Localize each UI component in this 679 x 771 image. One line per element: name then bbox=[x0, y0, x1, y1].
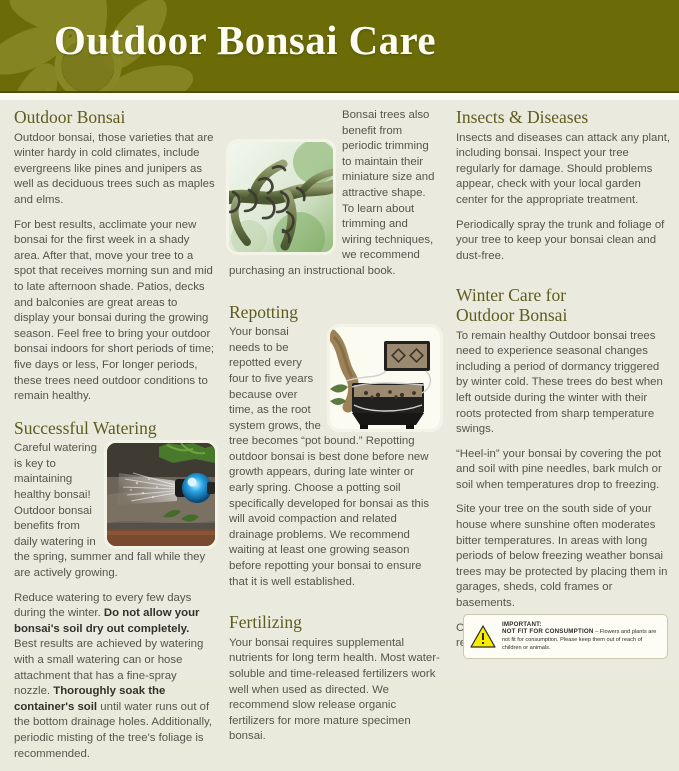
heading-repotting: Repotting bbox=[229, 303, 440, 323]
page-header: Outdoor Bonsai Care bbox=[0, 0, 679, 93]
paragraph-insects-2: Periodically spray the trunk and foliage… bbox=[456, 218, 671, 265]
paragraph-outdoor-bonsai-2: For best results, acclimate your new bon… bbox=[14, 218, 215, 405]
header-bottom-rule bbox=[0, 91, 679, 93]
hose-nozzle-spraying-water-photo bbox=[107, 443, 215, 546]
paragraph-insects-1: Insects and diseases can attack any plan… bbox=[456, 131, 671, 209]
heading-fertilizing: Fertilizing bbox=[229, 613, 440, 633]
poster-page: Outdoor Bonsai Care Outdoor Bonsai Outdo… bbox=[0, 0, 679, 679]
wired-bonsai-branch-photo bbox=[229, 142, 333, 252]
content-columns: Outdoor Bonsai Outdoor bonsai, those var… bbox=[0, 100, 679, 771]
warning-triangle-icon bbox=[470, 625, 496, 648]
heading-outdoor-bonsai: Outdoor Bonsai bbox=[14, 108, 215, 128]
warning-text: IMPORTANT: NOT FIT FOR CONSUMPTION – Flo… bbox=[502, 621, 661, 652]
important-warning-box: IMPORTANT: NOT FIT FOR CONSUMPTION – Flo… bbox=[463, 614, 668, 659]
heading-successful-watering: Successful Watering bbox=[14, 419, 215, 439]
warning-line-important: IMPORTANT: bbox=[502, 621, 661, 629]
column-insects-winter: Insects & Diseases Insects and diseases … bbox=[450, 108, 679, 771]
warning-line-not-fit: NOT FIT FOR CONSUMPTION bbox=[502, 628, 594, 635]
heading-winter-care: Winter Care for Outdoor Bonsai bbox=[456, 286, 671, 325]
page-title: Outdoor Bonsai Care bbox=[54, 16, 436, 64]
paragraph-winter-1: To remain healthy Outdoor bonsai trees n… bbox=[456, 329, 671, 438]
heading-winter-care-line1: Winter Care for bbox=[456, 285, 566, 305]
paragraph-outdoor-bonsai-1: Outdoor bonsai, those varieties that are… bbox=[14, 131, 215, 209]
column-trimming-repotting: Bonsai trees also benefit from periodic … bbox=[225, 108, 450, 771]
paragraph-winter-3: Site your tree on the south side of your… bbox=[456, 502, 671, 611]
column-outdoor-bonsai: Outdoor Bonsai Outdoor bonsai, those var… bbox=[0, 108, 225, 771]
bonsai-pot-with-drainage-screens-photo bbox=[330, 327, 440, 429]
heading-winter-care-line2: Outdoor Bonsai bbox=[456, 305, 567, 325]
paragraph-winter-2: “Heel-in” your bonsai by covering the po… bbox=[456, 447, 671, 494]
paragraph-watering-2: Reduce watering to every few days during… bbox=[14, 591, 215, 763]
header-gap bbox=[0, 93, 679, 100]
paragraph-fertilizing: Your bonsai requires supplemental nutrie… bbox=[229, 636, 440, 745]
heading-insects-diseases: Insects & Diseases bbox=[456, 108, 671, 128]
